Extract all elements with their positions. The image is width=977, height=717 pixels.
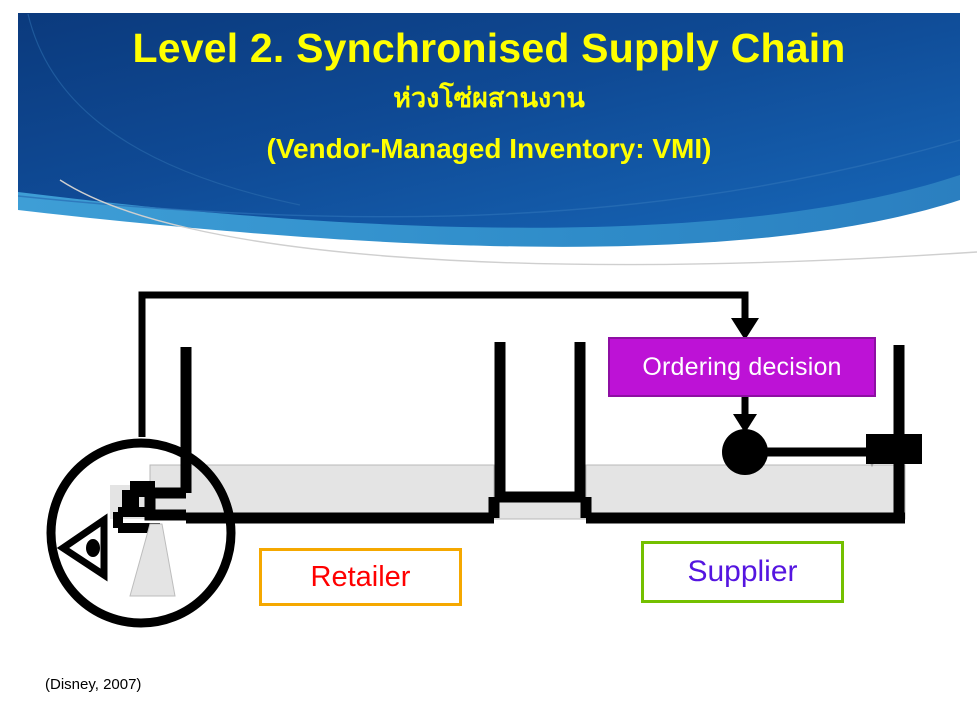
eye-pupil-icon — [86, 539, 100, 557]
retailer-label: Retailer — [311, 561, 411, 594]
supplier-label-box[interactable]: Supplier — [641, 541, 844, 603]
slide-canvas: Level 2. Synchronised Supply Chain ห่วงโ… — [0, 0, 977, 717]
ordering-decision-box[interactable]: Ordering decision — [608, 337, 876, 397]
flow-ball-icon — [722, 429, 768, 475]
supplier-label: Supplier — [687, 555, 797, 589]
ordering-decision-label: Ordering decision — [642, 353, 841, 382]
retailer-label-box[interactable]: Retailer — [259, 548, 462, 606]
page-subtitle: (Vendor-Managed Inventory: VMI) — [18, 132, 960, 166]
funnel-icon — [130, 524, 175, 596]
source-block-icon — [866, 434, 922, 464]
citation-text: (Disney, 2007) — [45, 676, 141, 693]
page-title: Level 2. Synchronised Supply Chain — [18, 26, 960, 72]
header-text-block: Level 2. Synchronised Supply Chain ห่วงโ… — [18, 14, 960, 209]
page-title-thai: ห่วงโซ่ผสานงาน — [18, 82, 960, 114]
